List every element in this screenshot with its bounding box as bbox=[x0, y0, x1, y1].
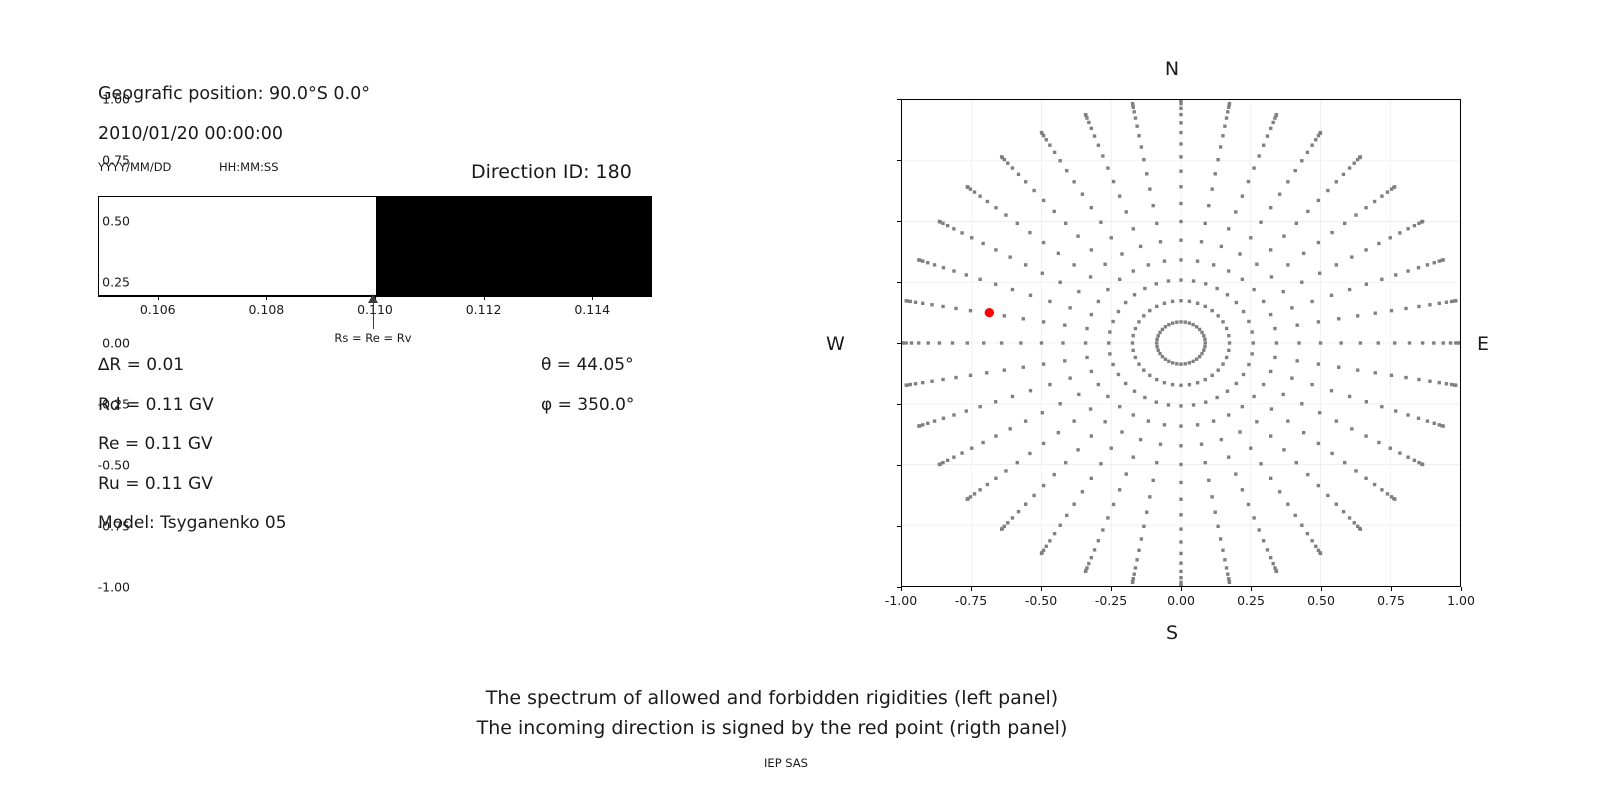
x-axis-tick bbox=[901, 587, 902, 591]
x-axis-tick-label: 0.75 bbox=[1377, 593, 1405, 608]
compass-label-north: N bbox=[1165, 58, 1179, 80]
x-axis-tick bbox=[1181, 587, 1182, 591]
y-axis-tick-label: 1.00 bbox=[102, 92, 130, 107]
x-axis-tick bbox=[1391, 587, 1392, 591]
compass-label-west: W bbox=[826, 333, 845, 355]
y-axis-tick-label: 0.00 bbox=[102, 336, 130, 351]
gridlines bbox=[902, 100, 1460, 586]
y-axis-tick bbox=[897, 465, 901, 466]
x-axis-tick-label: -0.50 bbox=[1025, 593, 1057, 608]
x-axis-tick-label: -0.75 bbox=[955, 593, 987, 608]
x-axis-tick-label: -1.00 bbox=[885, 593, 917, 608]
x-axis-tick bbox=[1321, 587, 1322, 591]
y-axis-tick-label: -0.50 bbox=[98, 458, 130, 473]
x-axis-tick-label: 0.25 bbox=[1237, 593, 1265, 608]
x-axis-tick-label: 0.00 bbox=[1167, 593, 1195, 608]
compass-label-south: S bbox=[1166, 622, 1178, 644]
y-axis-tick-label: 0.75 bbox=[102, 153, 130, 168]
caption-line-2: The incoming direction is signed by the … bbox=[477, 717, 1068, 739]
y-axis-tick-label: -0.25 bbox=[98, 397, 130, 412]
x-axis-tick-label: -0.25 bbox=[1095, 593, 1127, 608]
x-axis-tick bbox=[1041, 587, 1042, 591]
compass-label-east: E bbox=[1477, 333, 1489, 355]
selected-direction-point bbox=[985, 308, 994, 317]
y-axis-tick bbox=[897, 526, 901, 527]
y-axis-tick-label: 0.50 bbox=[102, 214, 130, 229]
caption-line-1: The spectrum of allowed and forbidden ri… bbox=[486, 687, 1058, 709]
incoming-direction-panel: N S W E -1.00-0.75-0.50-0.250.000.250.50… bbox=[0, 0, 1600, 660]
y-axis-tick bbox=[897, 99, 901, 100]
y-axis-tick-label: -1.00 bbox=[98, 580, 130, 595]
y-axis-tick-label: -0.75 bbox=[98, 519, 130, 534]
scatter-plot-canvas bbox=[902, 100, 1460, 586]
y-axis-tick bbox=[897, 160, 901, 161]
scatter-plot-axes bbox=[901, 99, 1461, 587]
y-axis-tick bbox=[897, 282, 901, 283]
x-axis-tick bbox=[1461, 587, 1462, 591]
y-axis-tick bbox=[897, 221, 901, 222]
x-axis-tick-label: 0.50 bbox=[1307, 593, 1335, 608]
x-axis-tick bbox=[1111, 587, 1112, 591]
y-axis-tick bbox=[897, 343, 901, 344]
y-axis-tick-label: 0.25 bbox=[102, 275, 130, 290]
x-axis-tick bbox=[1251, 587, 1252, 591]
y-axis-tick bbox=[897, 404, 901, 405]
x-axis-tick bbox=[971, 587, 972, 591]
footer-label: IEP SAS bbox=[764, 756, 808, 770]
x-axis-tick-label: 1.00 bbox=[1447, 593, 1475, 608]
